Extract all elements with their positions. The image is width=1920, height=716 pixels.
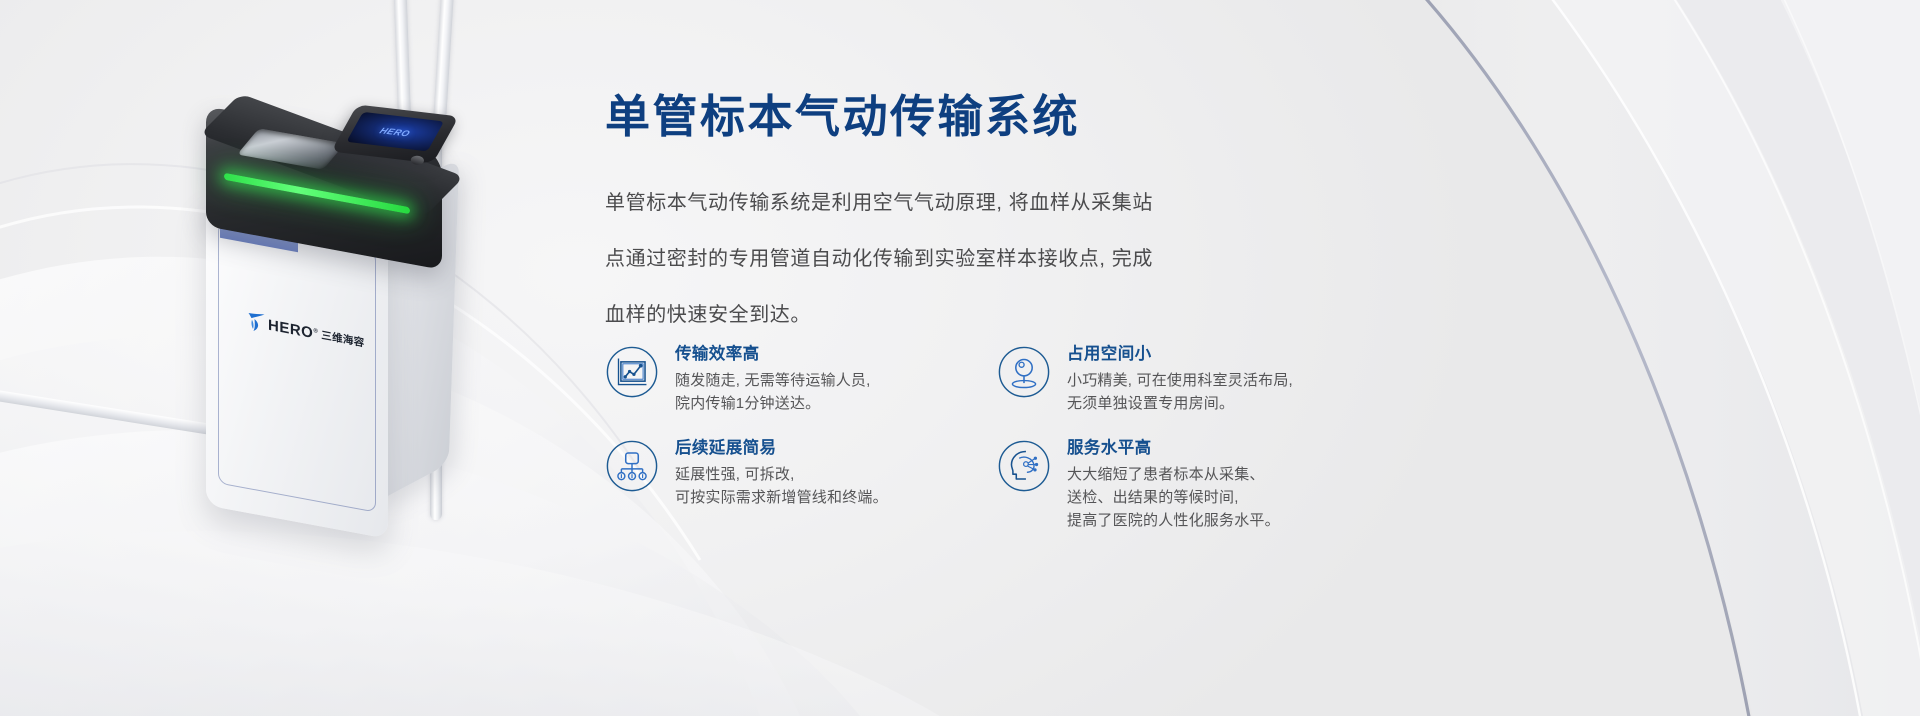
hero-leaf-icon xyxy=(248,311,265,334)
feature-description: 随发随走, 无需等待运输人员, 院内传输1分钟送达。 xyxy=(675,369,871,415)
feature-desc-line: 无须单独设置专用房间。 xyxy=(1067,392,1293,415)
feature-item-small-footprint: 占用空间小 小巧精美, 可在使用科室灵活布局, 无须单独设置专用房间。 xyxy=(997,343,1389,415)
feature-desc-line: 大大缩短了患者标本从采集、 xyxy=(1067,463,1280,486)
product-image: HERO HERO® 三维海容 xyxy=(0,0,600,716)
page-description: 单管标本气动传输系统是利用空气气动原理, 将血样从采集站 点通过密封的专用管道自… xyxy=(605,175,1285,343)
feature-description: 延展性强, 可拆改, 可按实际需求新增管线和终端。 xyxy=(675,463,888,509)
smart-head-icon xyxy=(997,439,1051,493)
network-tree-icon xyxy=(605,439,659,493)
feature-desc-line: 可按实际需求新增管线和终端。 xyxy=(675,486,888,509)
content-column: 单管标本气动传输系统 单管标本气动传输系统是利用空气气动原理, 将血样从采集站 … xyxy=(605,0,1920,716)
feature-title: 后续延展简易 xyxy=(675,439,888,459)
feature-text: 占用空间小 小巧精美, 可在使用科室灵活布局, 无须单独设置专用房间。 xyxy=(1067,343,1293,415)
feature-text: 传输效率高 随发随走, 无需等待运输人员, 院内传输1分钟送达。 xyxy=(675,343,871,415)
feature-desc-line: 延展性强, 可拆改, xyxy=(675,463,888,486)
feature-title: 占用空间小 xyxy=(1067,345,1293,365)
device-brand-cn: 三维海容 xyxy=(321,327,364,350)
feature-desc-line: 送检、出结果的等候时间, xyxy=(1067,486,1280,509)
device-panel-outline xyxy=(218,221,376,512)
device-screen-logo: HERO xyxy=(378,125,412,137)
feature-desc-line: 小巧精美, 可在使用科室灵活布局, xyxy=(1067,369,1293,392)
pneumatic-transfer-station-device: HERO HERO® 三维海容 xyxy=(196,120,516,540)
pneumatic-tube-left xyxy=(394,0,412,126)
page-title: 单管标本气动传输系统 xyxy=(605,94,1080,139)
feature-description: 小巧精美, 可在使用科室灵活布局, 无须单独设置专用房间。 xyxy=(1067,369,1293,415)
feature-description: 大大缩短了患者标本从采集、 送检、出结果的等候时间, 提高了医院的人性化服务水平… xyxy=(1067,463,1280,532)
feature-text: 后续延展简易 延展性强, 可拆改, 可按实际需求新增管线和终端。 xyxy=(675,437,888,509)
description-line-3: 血样的快速安全到达。 xyxy=(605,287,1285,343)
device-brand-text: HERO® xyxy=(268,317,318,341)
location-pin-icon xyxy=(997,345,1051,399)
description-line-1: 单管标本气动传输系统是利用空气气动原理, 将血样从采集站 xyxy=(605,175,1285,231)
line-chart-icon xyxy=(605,345,659,399)
feature-item-easy-expansion: 后续延展简易 延展性强, 可拆改, 可按实际需求新增管线和终端。 xyxy=(605,437,997,532)
pneumatic-tube-right xyxy=(433,0,454,120)
feature-desc-line: 院内传输1分钟送达。 xyxy=(675,392,871,415)
feature-desc-line: 随发随走, 无需等待运输人员, xyxy=(675,369,871,392)
feature-title: 服务水平高 xyxy=(1067,439,1280,459)
feature-title: 传输效率高 xyxy=(675,345,871,365)
feature-text: 服务水平高 大大缩短了患者标本从采集、 送检、出结果的等候时间, 提高了医院的人… xyxy=(1067,437,1280,532)
feature-grid: 传输效率高 随发随走, 无需等待运输人员, 院内传输1分钟送达。 占用空间小 小… xyxy=(605,343,1305,532)
feature-item-transfer-efficiency: 传输效率高 随发随走, 无需等待运输人员, 院内传输1分钟送达。 xyxy=(605,343,997,415)
feature-item-service-level: 服务水平高 大大缩短了患者标本从采集、 送检、出结果的等候时间, 提高了医院的人… xyxy=(997,437,1389,532)
feature-desc-line: 提高了医院的人性化服务水平。 xyxy=(1067,509,1280,532)
device-screen: HERO xyxy=(346,112,444,151)
description-line-2: 点通过密封的专用管道自动化传输到实验室样本接收点, 完成 xyxy=(605,231,1285,287)
